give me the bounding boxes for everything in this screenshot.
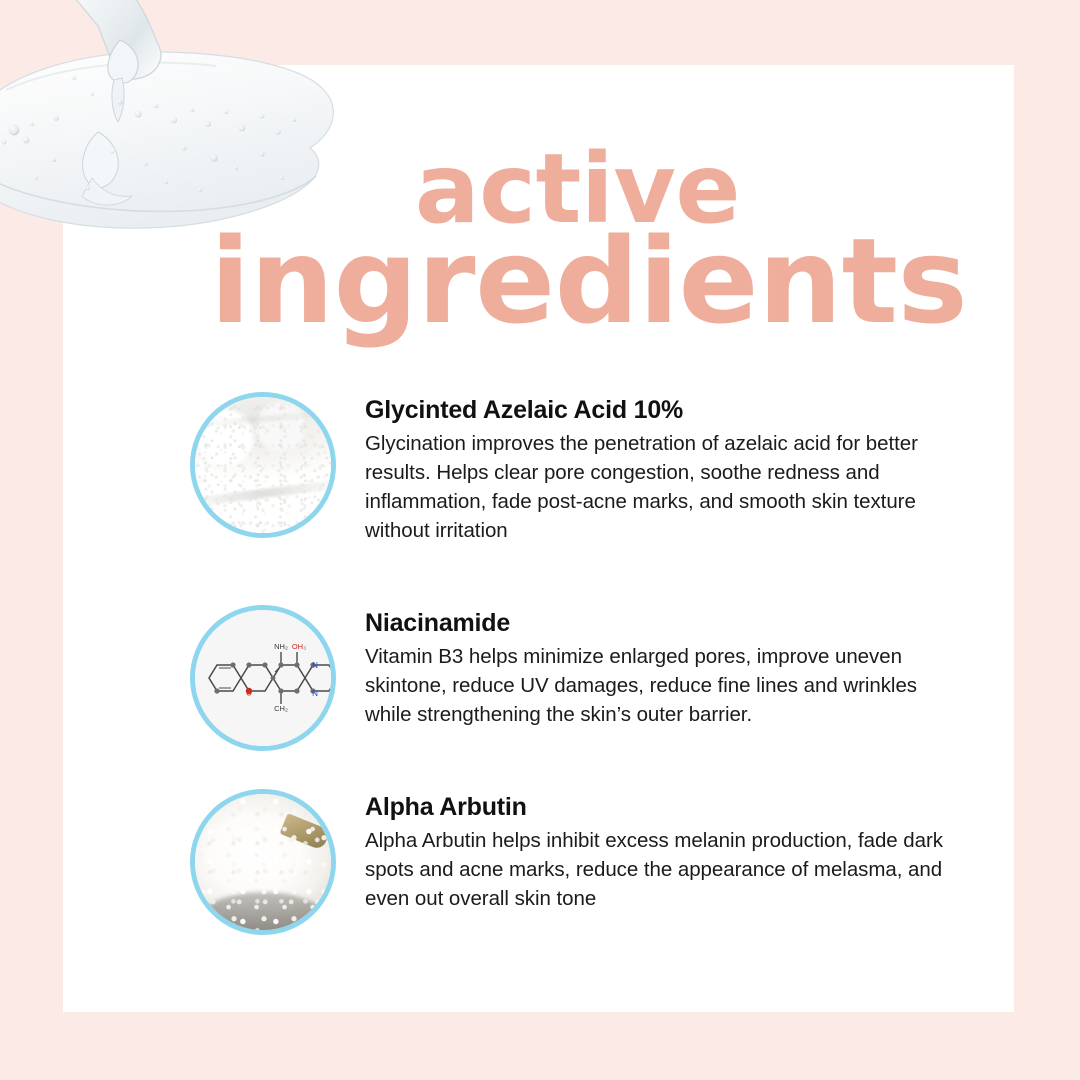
ingredient-name: Alpha Arbutin [365,793,965,822]
molecule-label-n-top: N [312,661,318,670]
ingredient-description: Alpha Arbutin helps inhibit excess melan… [365,826,965,913]
molecule-label-oh: OH₃ [292,642,306,651]
ingredient-text-block: Niacinamide Vitamin B3 helps minimize en… [365,605,965,729]
ingredient-name: Niacinamide [365,609,965,638]
ingredient-text-block: Alpha Arbutin Alpha Arbutin helps inhibi… [365,789,965,913]
ingredient-thumbnail-ring [190,789,336,935]
ingredient-description: Vitamin B3 helps minimize enlarged pores… [365,642,965,729]
molecule-label-n-bottom: N [312,689,318,698]
alpha-arbutin-powder-photo [195,794,331,930]
ingredient-thumbnail-ring [190,392,336,538]
ingredient-list: Glycinted Azelaic Acid 10% Glycination i… [0,0,1080,1080]
ingredient-thumbnail-ring: O N N NH₂ OH₃ CH₂ [190,605,336,751]
molecular-structure-diagram: O N N NH₂ OH₃ CH₂ [195,610,331,746]
ingredient-item-niacinamide: O N N NH₂ OH₃ CH₂ Niacinamide Vitamin B3… [190,605,965,751]
ingredient-item-glycinted-azelaic-acid: Glycinted Azelaic Acid 10% Glycination i… [190,392,965,545]
poster-canvas: active ingredients Glycinted Azelaic Aci… [0,0,1080,1080]
ingredient-name: Glycinted Azelaic Acid 10% [365,396,965,425]
ingredient-description: Glycination improves the penetration of … [365,429,965,545]
molecule-label-o: O [246,691,252,698]
ingredient-item-alpha-arbutin: Alpha Arbutin Alpha Arbutin helps inhibi… [190,789,965,935]
molecule-icon: O N N NH₂ OH₃ CH₂ [195,610,331,746]
white-powder-photo [195,397,331,533]
molecule-label-nh2: NH₂ [274,642,288,651]
ingredient-text-block: Glycinted Azelaic Acid 10% Glycination i… [365,392,965,545]
molecule-label-ch2: CH₂ [274,704,288,713]
